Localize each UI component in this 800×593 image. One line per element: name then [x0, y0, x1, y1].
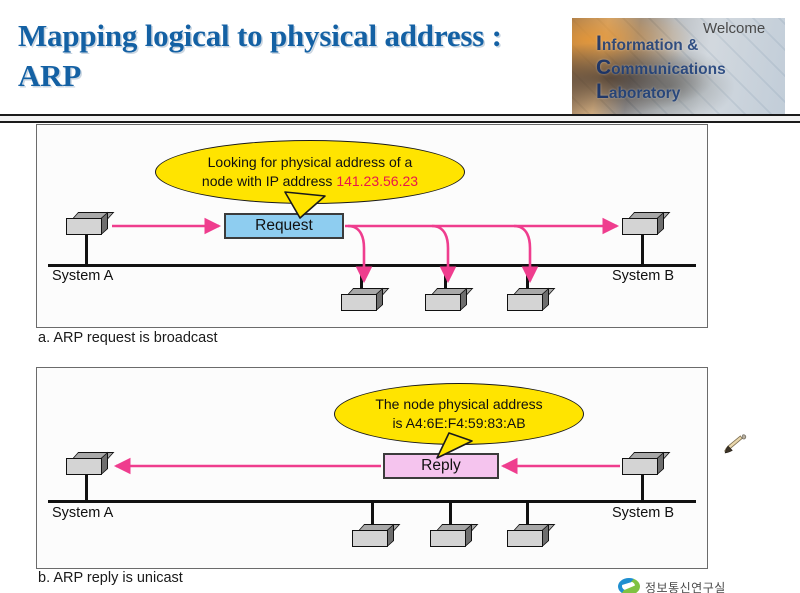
logo-wordmark: Information & Communications Laboratory [596, 33, 726, 105]
node-system-a-reply [66, 452, 110, 476]
node-front-face [622, 218, 658, 235]
page-title: Mapping logical to physical address : AR… [18, 16, 538, 96]
logo-line-3: aboratory [609, 85, 681, 102]
pen-cursor-icon [722, 432, 748, 456]
corporate-logo: 정보통신연구실 [618, 578, 793, 593]
callout-line-1: The node physical address [375, 396, 542, 412]
callout-text-request: Looking for physical address of a node w… [188, 153, 432, 191]
node-stem-drop-1-request [360, 264, 363, 290]
node-front-face [430, 530, 466, 547]
node-drop-2-reply [430, 524, 474, 548]
node-drop-1-request [341, 288, 385, 312]
callout-line-1: Looking for physical address of a [208, 154, 413, 170]
node-front-face [507, 530, 543, 547]
node-side-face [101, 212, 108, 235]
callout-line-2-prefix: is [392, 415, 405, 431]
node-system-b-request [622, 212, 666, 236]
node-side-face [101, 452, 108, 475]
node-drop-3-reply [507, 524, 551, 548]
node-front-face [341, 294, 377, 311]
callout-line-2-prefix: node with IP address [202, 173, 336, 189]
node-stem-system-b-reply [641, 475, 644, 502]
node-drop-3-request [507, 288, 551, 312]
node-stem-drop-1-reply [371, 500, 374, 526]
logo-cap-c: C [596, 56, 611, 79]
corporate-logo-name: 정보통신연구실 [645, 579, 726, 593]
node-side-face [542, 524, 549, 547]
node-stem-drop-2-request [444, 264, 447, 290]
node-stem-system-a-request [85, 235, 88, 265]
label-system-a-request: System A [52, 268, 113, 284]
node-stem-drop-3-reply [526, 500, 529, 526]
node-system-b-reply [622, 452, 666, 476]
node-stem-drop-3-request [526, 264, 529, 290]
node-drop-2-request [425, 288, 469, 312]
node-side-face [657, 452, 664, 475]
callout-bubble-request: Looking for physical address of a node w… [155, 140, 465, 204]
bus-cable-a [48, 264, 696, 267]
node-side-face [657, 212, 664, 235]
callout-mac-address: A4:6E:F4:59:83:AB [406, 415, 526, 431]
message-box-reply: Reply [383, 453, 499, 479]
logo-line-2: ommunications [611, 61, 726, 78]
node-stem-drop-2-reply [449, 500, 452, 526]
logo-line-1: nformation & [602, 37, 698, 54]
callout-bubble-reply: The node physical address is A4:6E:F4:59… [334, 383, 584, 445]
node-front-face [66, 218, 102, 235]
welcome-label: Welcome [703, 20, 765, 37]
caption-panel-b: b. ARP reply is unicast [38, 570, 183, 586]
callout-ip-address: 141.23.56.23 [336, 173, 418, 189]
node-front-face [352, 530, 388, 547]
node-stem-system-b-request [641, 235, 644, 265]
node-front-face [425, 294, 461, 311]
node-front-face [622, 458, 658, 475]
node-front-face [66, 458, 102, 475]
label-system-a-reply: System A [52, 505, 113, 521]
node-side-face [387, 524, 394, 547]
node-system-a-request [66, 212, 110, 236]
message-box-request: Request [224, 213, 344, 239]
label-system-b-request: System B [612, 268, 674, 284]
logo-cap-l: L [596, 80, 609, 103]
node-drop-1-reply [352, 524, 396, 548]
corporate-logo-mark [618, 578, 640, 593]
node-stem-system-a-reply [85, 475, 88, 502]
caption-panel-a: a. ARP request is broadcast [38, 330, 217, 346]
slide-header: Mapping logical to physical address : AR… [0, 0, 800, 116]
node-side-face [460, 288, 467, 311]
node-side-face [376, 288, 383, 311]
node-front-face [507, 294, 543, 311]
node-side-face [465, 524, 472, 547]
callout-text-reply: The node physical address is A4:6E:F4:59… [361, 395, 556, 433]
label-system-b-reply: System B [612, 505, 674, 521]
header-divider-rule [0, 114, 800, 123]
node-side-face [542, 288, 549, 311]
